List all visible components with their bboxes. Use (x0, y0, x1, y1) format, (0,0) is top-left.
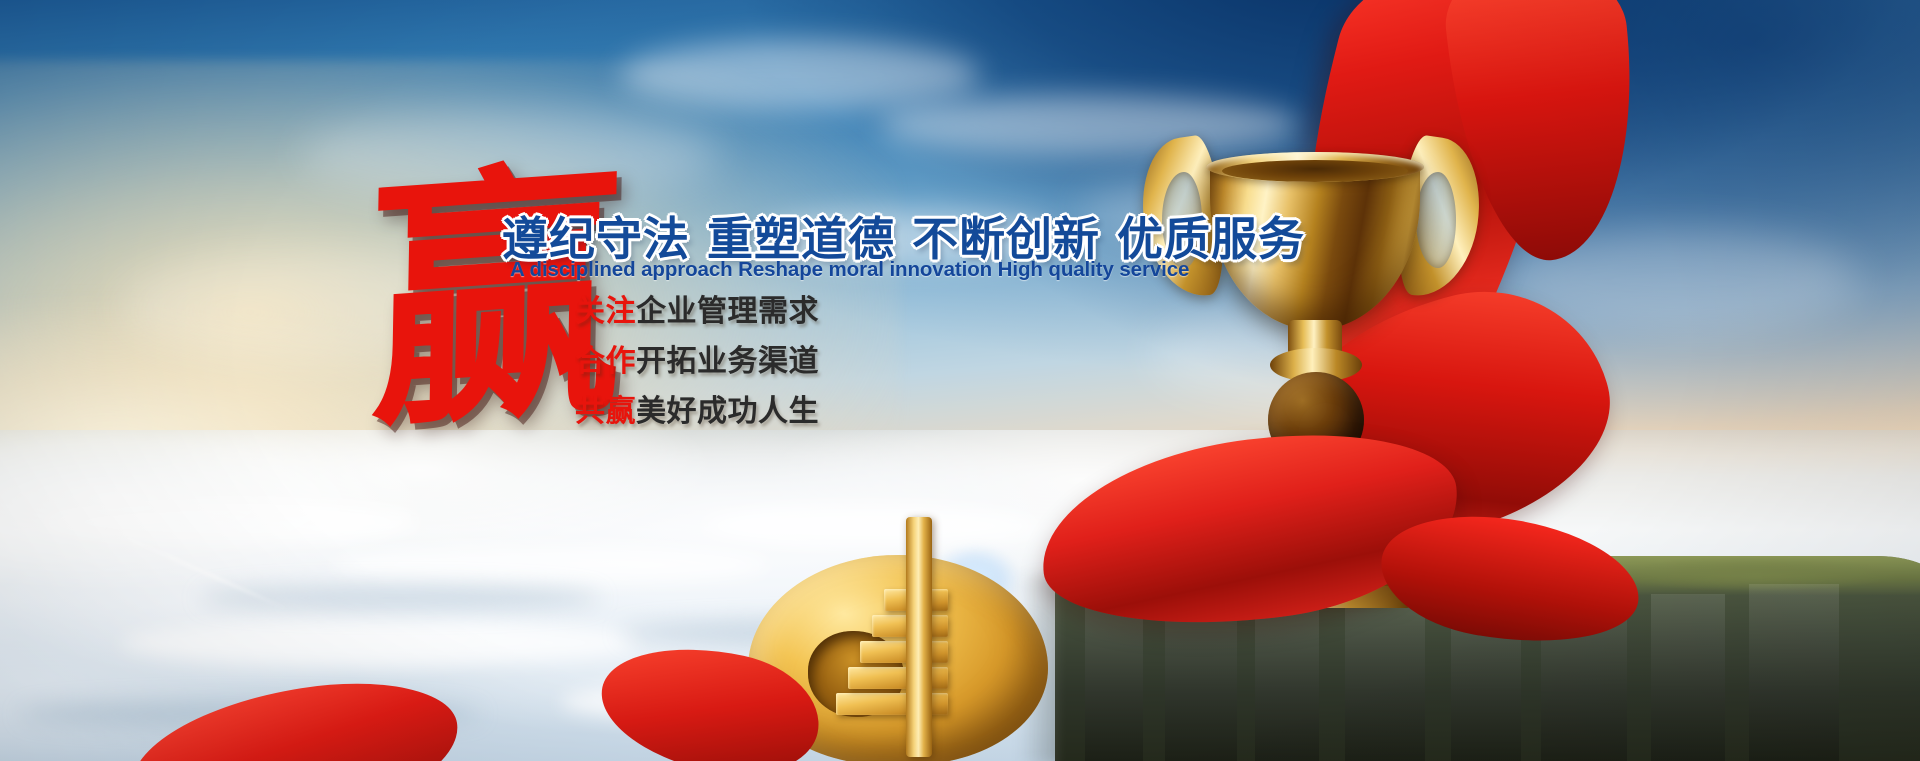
cloud-streak (120, 620, 640, 666)
rock-column (1749, 584, 1839, 761)
promotional-banner: 赢 遵纪守法 重塑道德 不断创新 优质服务 A disciplined appr… (0, 0, 1920, 761)
slogan-text: 企业管理需求 (636, 294, 819, 329)
slogan-line: 共赢美好成功人生 (575, 387, 819, 437)
rock-column (1255, 600, 1319, 761)
slogan-text: 开拓业务渠道 (636, 344, 819, 379)
trophy-handle-opening-right (1416, 172, 1456, 268)
dollar-vertical-bar (906, 517, 932, 757)
banner-text-block: 赢 遵纪守法 重塑道德 不断创新 优质服务 A disciplined appr… (370, 175, 1150, 435)
slogan-keyword: 关注 (575, 294, 636, 329)
trophy-bowl-interior (1222, 160, 1408, 182)
slogan-line: 关注企业管理需求 (575, 287, 819, 337)
headline-english: A disciplined approach Reshape moral inn… (510, 258, 1189, 282)
stair-step (860, 641, 948, 663)
slogan-text: 美好成功人生 (636, 394, 819, 429)
rock-column (1651, 594, 1725, 761)
rock-column (1085, 596, 1143, 761)
cloud-streak (330, 545, 770, 585)
slogan-line: 合作开拓业务渠道 (575, 337, 819, 387)
cloud-wisp (620, 40, 980, 110)
slogan-keyword: 共赢 (575, 394, 636, 429)
slogan-list: 关注企业管理需求 合作开拓业务渠道 共赢美好成功人生 (575, 287, 819, 437)
slogan-keyword: 合作 (575, 344, 636, 379)
stair-step (848, 667, 948, 689)
